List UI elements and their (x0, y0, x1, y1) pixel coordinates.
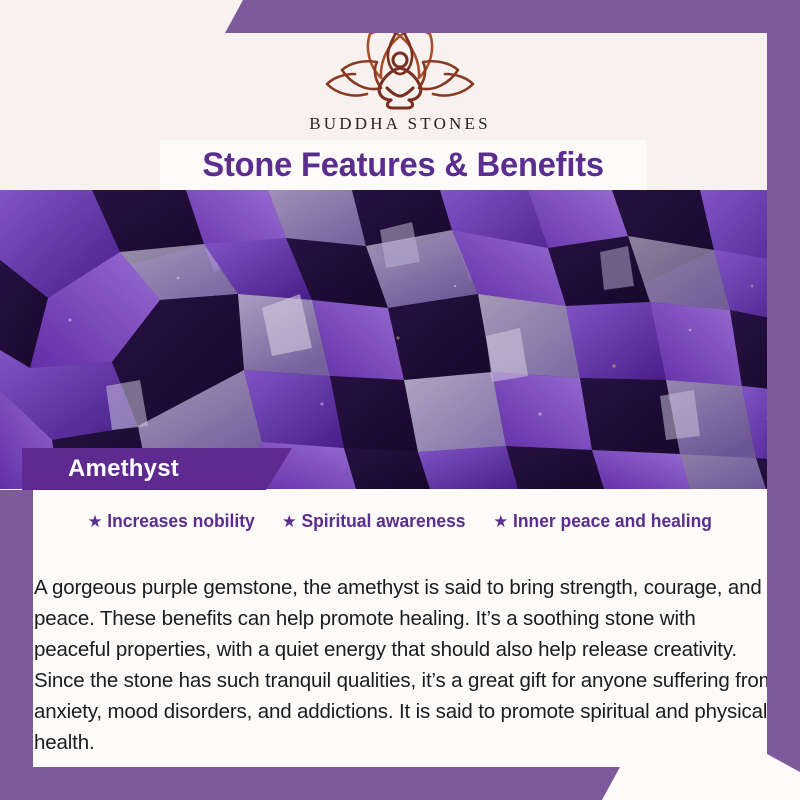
amethyst-hero-image (0, 190, 800, 489)
content-area: ★ Increases nobility ★ Spiritual awarene… (0, 489, 800, 800)
frame-accent-right (767, 0, 800, 772)
benefit-item: ★ Inner peace and healing (494, 511, 713, 532)
benefit-label: Increases nobility (107, 511, 255, 532)
brand-name: BUDDHA STONES (309, 114, 491, 134)
brand-logo: BUDDHA STONES (0, 22, 800, 134)
lotus-meditation-icon (325, 22, 475, 110)
star-icon: ★ (494, 513, 509, 530)
frame-accent-left (0, 490, 33, 800)
benefit-item: ★ Spiritual awareness (282, 511, 466, 532)
benefits-row: ★ Increases nobility ★ Spiritual awarene… (0, 511, 800, 532)
frame-accent-bottom (0, 767, 620, 800)
benefit-item: ★ Increases nobility (87, 511, 254, 532)
star-icon: ★ (282, 513, 297, 530)
page-title: Stone Features & Benefits (203, 146, 604, 185)
benefit-label: Spiritual awareness (301, 511, 465, 532)
star-icon: ★ (87, 513, 102, 530)
title-banner: Stone Features & Benefits (160, 140, 647, 190)
stone-name-label: Amethyst (68, 455, 179, 483)
stone-name-banner: Amethyst (22, 448, 292, 490)
stone-description: A gorgeous purple gemstone, the amethyst… (34, 572, 776, 758)
benefit-label: Inner peace and healing (513, 511, 712, 532)
poster-page: BUDDHA STONES Stone Features & Benefits … (0, 0, 800, 800)
frame-accent-top (225, 0, 800, 33)
